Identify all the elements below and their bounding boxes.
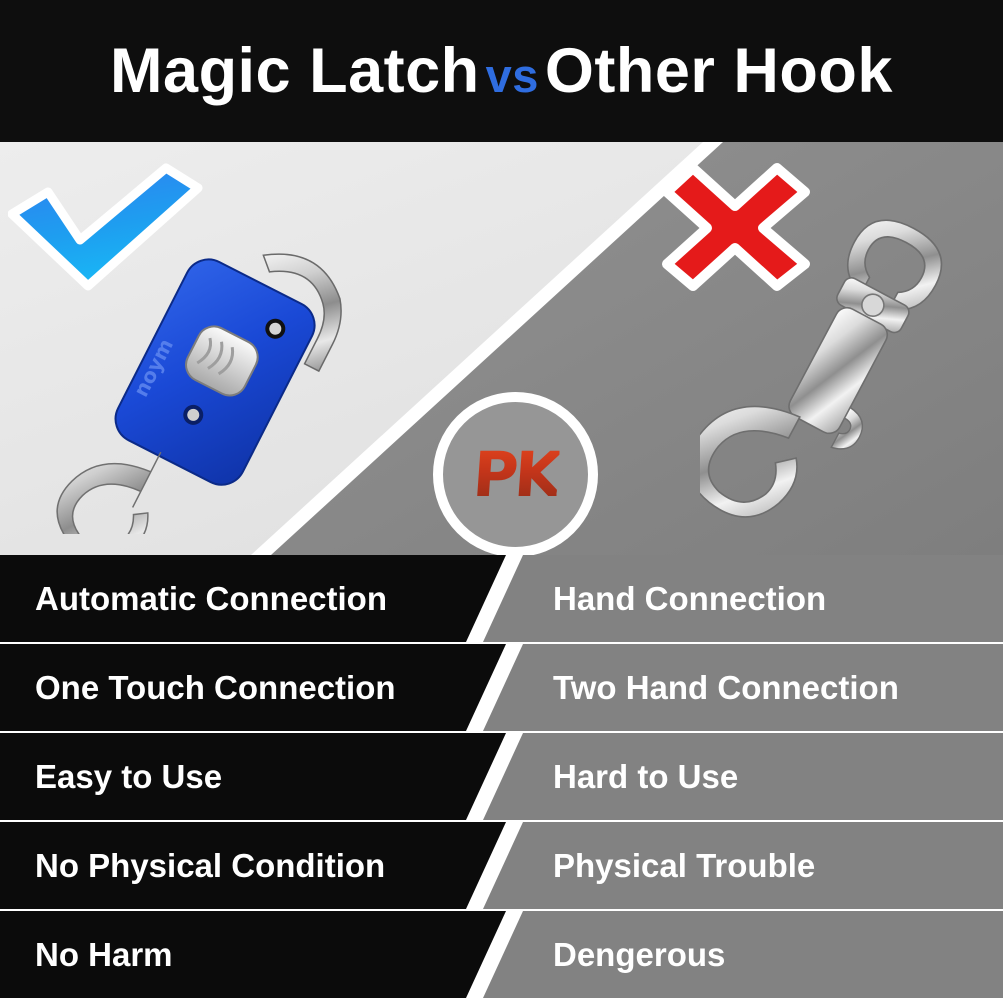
table-row: No Physical Condition Physical Trouble <box>0 822 1003 909</box>
pk-badge-label: PK <box>470 438 561 511</box>
row-left-label: One Touch Connection <box>0 671 396 704</box>
row-left-label: No Physical Condition <box>0 849 385 882</box>
hero-panel: noym <box>0 142 1003 555</box>
other-hook-product-image <box>700 202 980 532</box>
table-row: Easy to Use Hard to Use <box>0 733 1003 820</box>
comparison-infographic: Magic LatchvsOther Hook <box>0 0 1003 1003</box>
page-header: Magic LatchvsOther Hook <box>0 0 1003 142</box>
title-left-product: Magic Latch <box>110 36 480 106</box>
comparison-table: Automatic Connection Hand Connection One… <box>0 555 1003 1003</box>
magic-latch-product-image: noym <box>55 204 385 534</box>
title-right-product: Other Hook <box>545 36 893 106</box>
page-title: Magic LatchvsOther Hook <box>110 40 893 103</box>
vs-label: vs <box>480 49 545 102</box>
table-row: No Harm Dengerous <box>0 911 1003 998</box>
table-row: Automatic Connection Hand Connection <box>0 555 1003 642</box>
pk-versus-badge: PK <box>433 392 598 555</box>
row-left-label: Easy to Use <box>0 760 222 793</box>
row-left-label: No Harm <box>0 938 173 971</box>
table-row: One Touch Connection Two Hand Connection <box>0 644 1003 731</box>
row-left-label: Automatic Connection <box>0 582 387 615</box>
